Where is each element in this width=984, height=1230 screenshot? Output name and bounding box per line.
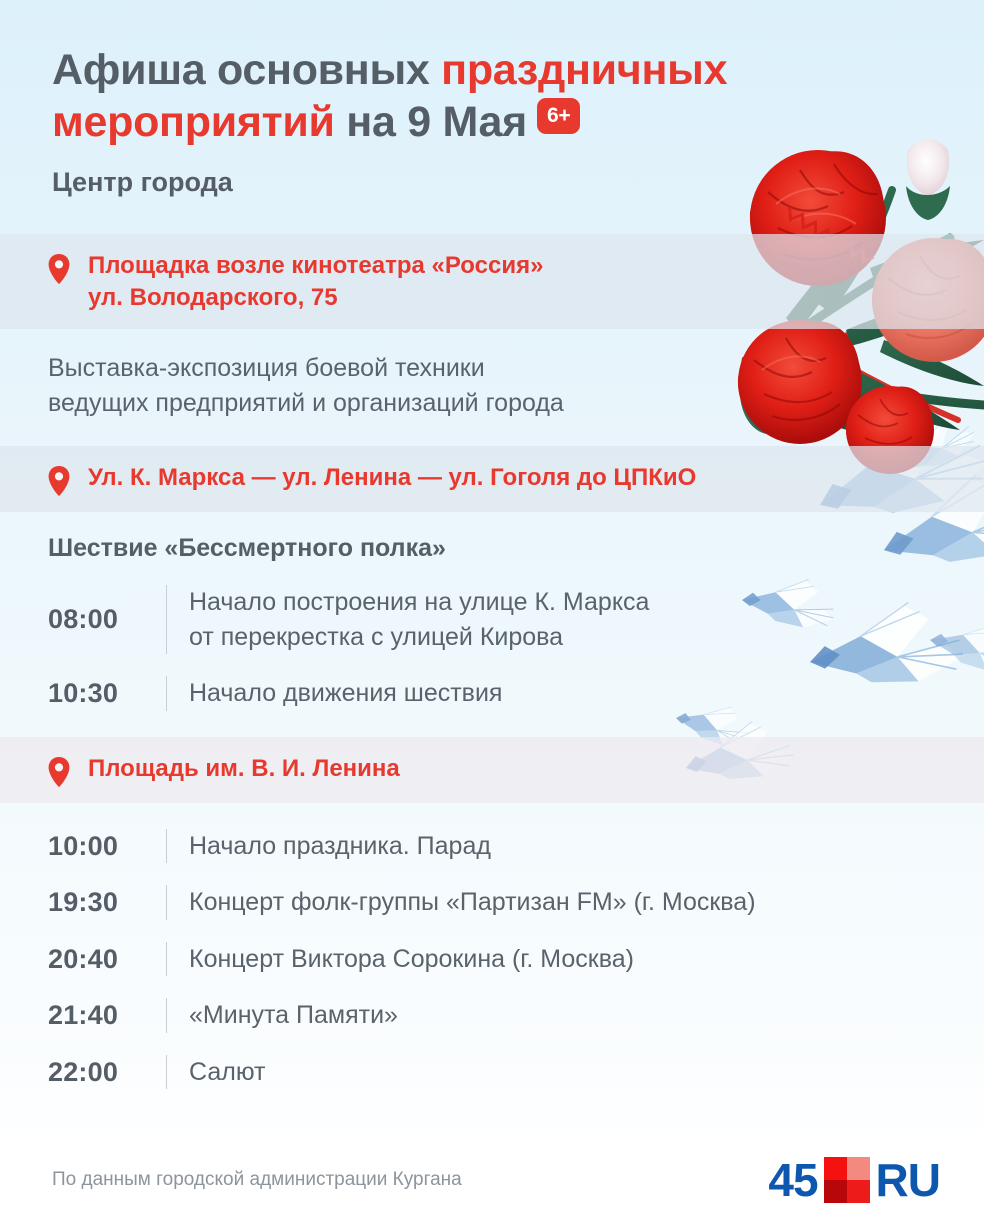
event-description: Начало праздника. Парад	[189, 829, 944, 864]
event-time: 10:30	[48, 676, 166, 711]
section-body: Шествие «Бессмертного полка» 08:00 Начал…	[0, 512, 984, 737]
location-pin-icon	[48, 254, 70, 284]
section-title: Ул. К. Маркса — ул. Ленина — ул. Гоголя …	[88, 462, 696, 494]
section-header-band: Площадка возле кинотеатра «Россия» ул. В…	[0, 234, 984, 329]
section-title: Площадь им. В. И. Ленина	[88, 753, 400, 785]
location-pin-icon	[48, 757, 70, 787]
section-title: Площадка возле кинотеатра «Россия» ул. В…	[88, 250, 543, 313]
row-divider	[166, 885, 167, 920]
section-header-band: Площадь им. В. И. Ленина	[0, 737, 984, 803]
section-body: 10:00 Начало праздника. Парад 19:30 Конц…	[0, 803, 984, 1116]
event-time: 19:30	[48, 885, 166, 920]
logo-suffix: RU	[876, 1157, 940, 1203]
row-divider	[166, 585, 167, 654]
schedule-row: 10:00 Начало праздника. Парад	[48, 829, 944, 864]
page-subtitle: Центр города	[52, 167, 944, 198]
schedule-list: 08:00 Начало построения на улице К. Марк…	[48, 585, 944, 711]
event-description: Концерт Виктора Сорокина (г. Москва)	[189, 942, 944, 977]
event-time: 22:00	[48, 1055, 166, 1090]
title-part-2: на 9 Мая	[335, 98, 527, 146]
logo-number: 45	[768, 1157, 817, 1203]
page-title: Афиша основных праздничных мероприятий н…	[52, 44, 752, 149]
event-time: 20:40	[48, 942, 166, 977]
row-divider	[166, 1055, 167, 1090]
section-lenin-square: Площадь им. В. И. Ленина 10:00 Начало пр…	[0, 737, 984, 1116]
location-pin-icon	[48, 466, 70, 496]
event-time: 21:40	[48, 998, 166, 1033]
schedule-row: 22:00 Салют	[48, 1055, 944, 1090]
schedule-list: 10:00 Начало праздника. Парад 19:30 Конц…	[48, 829, 944, 1090]
row-divider	[166, 676, 167, 711]
row-divider	[166, 942, 167, 977]
poster-header: Афиша основных праздничных мероприятий н…	[0, 0, 984, 198]
logo-square-icon	[824, 1157, 870, 1203]
event-description: Концерт фолк-группы «Партизан FM» (г. Мо…	[189, 885, 944, 920]
section-header-band: Ул. К. Маркса — ул. Ленина — ул. Гоголя …	[0, 446, 984, 512]
event-time: 10:00	[48, 829, 166, 864]
poster-footer: По данным городской администрации Курган…	[0, 1130, 984, 1230]
event-time: 08:00	[48, 585, 166, 654]
schedule-row: 19:30 Концерт фолк-группы «Партизан FM» …	[48, 885, 944, 920]
section-cinema-rossiya: Площадка возле кинотеатра «Россия» ул. В…	[0, 234, 984, 446]
event-description: «Минута Памяти»	[189, 998, 944, 1033]
section-body: Выставка-экспозиция боевой техники ведущ…	[0, 329, 984, 446]
schedule-row: 20:40 Концерт Виктора Сорокина (г. Москв…	[48, 942, 944, 977]
section-note: Выставка-экспозиция боевой техники ведущ…	[48, 351, 708, 420]
schedule-row: 10:30 Начало движения шествия	[48, 676, 944, 711]
title-part-1: Афиша основных	[52, 46, 441, 94]
source-attribution: По данным городской администрации Курган…	[52, 1169, 462, 1191]
section-subheading: Шествие «Бессмертного полка»	[48, 534, 944, 563]
schedule-row: 21:40 «Минута Памяти»	[48, 998, 944, 1033]
sections-list: Площадка возле кинотеатра «Россия» ул. В…	[0, 234, 984, 1115]
row-divider	[166, 829, 167, 864]
poster-root: Афиша основных праздничных мероприятий н…	[0, 0, 984, 1230]
event-description: Начало движения шествия	[189, 676, 944, 711]
schedule-row: 08:00 Начало построения на улице К. Марк…	[48, 585, 944, 654]
row-divider	[166, 998, 167, 1033]
event-description: Салют	[189, 1055, 944, 1090]
section-immortal-regiment-route: Ул. К. Маркса — ул. Ленина — ул. Гоголя …	[0, 446, 984, 737]
event-description: Начало построения на улице К. Маркса от …	[189, 585, 944, 654]
age-rating-badge: 6+	[537, 98, 580, 134]
site-logo[interactable]: 45 RU	[768, 1157, 940, 1203]
